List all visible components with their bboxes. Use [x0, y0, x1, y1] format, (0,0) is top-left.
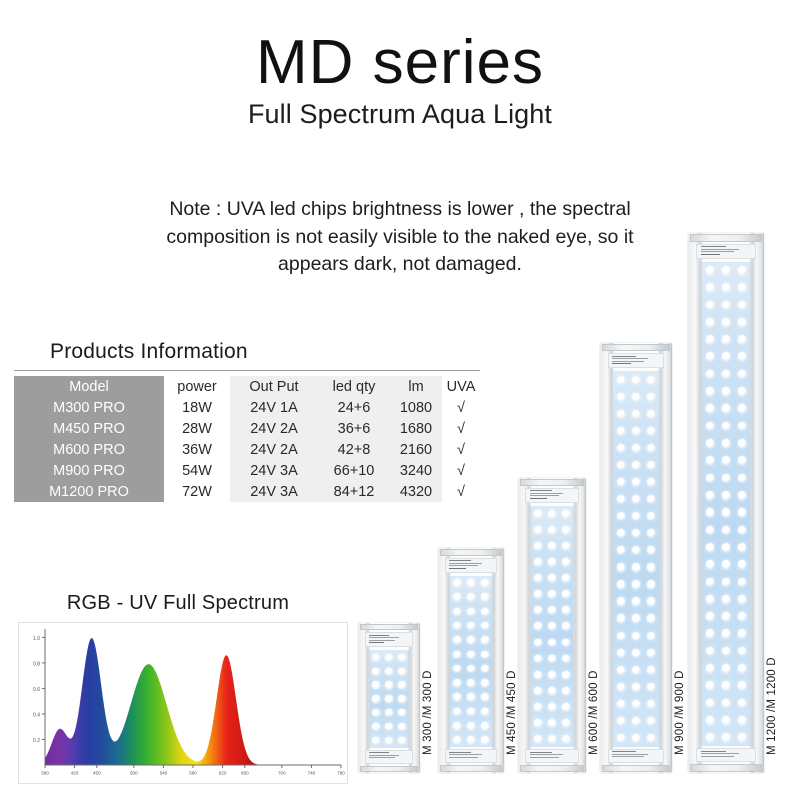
- led-dot: [706, 612, 715, 621]
- led-row: [531, 699, 574, 715]
- led-dot: [617, 666, 625, 674]
- led-row: [613, 593, 659, 610]
- led-dot: [738, 560, 747, 569]
- led-dot: [738, 283, 747, 292]
- led-dot: [722, 543, 731, 552]
- fixture-model-label: M 600 /M 600 D: [588, 670, 600, 755]
- led-row: [613, 405, 659, 422]
- led-dot: [467, 608, 475, 616]
- led-row: [531, 667, 574, 683]
- led-dot: [738, 681, 747, 690]
- led-dot: [617, 410, 625, 418]
- led-dot: [722, 352, 731, 361]
- led-dot: [706, 422, 715, 431]
- led-dot: [385, 723, 392, 730]
- led-dot: [562, 735, 570, 743]
- led-dot: [453, 693, 461, 701]
- led-dot: [453, 608, 461, 616]
- led-dot: [722, 526, 731, 535]
- product-fixture: [438, 548, 504, 773]
- led-dot: [385, 709, 392, 716]
- led-row: [531, 570, 574, 586]
- led-dot: [706, 578, 715, 587]
- led-dot: [534, 606, 542, 614]
- fixture-end-cap-bottom: [520, 765, 585, 772]
- led-dot: [632, 717, 640, 725]
- led-dot: [738, 422, 747, 431]
- led-dot: [632, 683, 640, 691]
- led-dot: [647, 717, 655, 725]
- led-dot: [617, 597, 625, 605]
- led-row: [613, 661, 659, 678]
- led-row: [450, 676, 492, 690]
- led-row: [613, 422, 659, 439]
- led-dot: [534, 639, 542, 647]
- led-dot: [706, 387, 715, 396]
- led-row: [370, 692, 409, 706]
- led-dot: [548, 526, 556, 534]
- led-panel: [701, 262, 751, 747]
- led-row: [702, 573, 750, 590]
- led-dot: [548, 510, 556, 518]
- led-dot: [647, 580, 655, 588]
- led-row: [702, 417, 750, 434]
- led-row: [450, 661, 492, 675]
- led-dot: [722, 491, 731, 500]
- led-dot: [467, 722, 475, 730]
- led-dot: [548, 622, 556, 630]
- led-dot: [647, 393, 655, 401]
- led-dot: [617, 495, 625, 503]
- led-dot: [617, 427, 625, 435]
- fixture-end-cap-bottom: [440, 765, 503, 772]
- led-row: [531, 651, 574, 667]
- led-dot: [647, 614, 655, 622]
- led-dot: [738, 266, 747, 275]
- led-dot: [534, 558, 542, 566]
- led-dot: [398, 723, 405, 730]
- led-row: [702, 314, 750, 331]
- led-row: [702, 452, 750, 469]
- led-row: [702, 591, 750, 608]
- led-row: [613, 542, 659, 559]
- led-row: [702, 262, 750, 279]
- fixture-body: [358, 623, 420, 773]
- led-dot: [453, 651, 461, 659]
- led-row: [702, 348, 750, 365]
- fixture-end-cap-top: [602, 344, 670, 351]
- led-row: [450, 633, 492, 647]
- led-dot: [562, 622, 570, 630]
- led-dot: [467, 622, 475, 630]
- led-dot: [706, 526, 715, 535]
- led-dot: [562, 526, 570, 534]
- led-dot: [632, 393, 640, 401]
- led-dot: [722, 612, 731, 621]
- led-dot: [534, 542, 542, 550]
- led-dot: [617, 563, 625, 571]
- led-dot: [398, 668, 405, 675]
- led-row: [450, 647, 492, 661]
- product-lineup-illustration: M 300 /M 300 DM 450 /M 450 DM 600 /M 600…: [0, 0, 800, 800]
- led-dot: [632, 649, 640, 657]
- led-dot: [647, 410, 655, 418]
- led-dot: [467, 593, 475, 601]
- led-dot: [453, 679, 461, 687]
- led-row: [531, 731, 574, 747]
- fixture-body: [600, 343, 672, 773]
- led-row: [702, 712, 750, 729]
- led-dot: [647, 649, 655, 657]
- led-dot: [738, 439, 747, 448]
- fixture-model-label: M 450 /M 450 D: [506, 670, 518, 755]
- led-row: [531, 634, 574, 650]
- led-dot: [617, 376, 625, 384]
- led-dot: [706, 629, 715, 638]
- led-dot: [647, 529, 655, 537]
- led-dot: [722, 699, 731, 708]
- led-dot: [738, 526, 747, 535]
- led-dot: [617, 546, 625, 554]
- led-dot: [372, 681, 379, 688]
- led-dot: [617, 614, 625, 622]
- led-dot: [453, 636, 461, 644]
- led-row: [450, 576, 492, 590]
- led-dot: [738, 629, 747, 638]
- led-dot: [706, 716, 715, 725]
- led-dot: [548, 606, 556, 614]
- led-dot: [481, 693, 489, 701]
- led-row: [702, 539, 750, 556]
- product-fixture: [688, 233, 764, 773]
- led-row: [613, 576, 659, 593]
- led-dot: [738, 664, 747, 673]
- fixture-model-label: M 1200 /M 1200 D: [766, 657, 778, 755]
- led-dot: [481, 608, 489, 616]
- led-dot: [467, 579, 475, 587]
- led-row: [613, 474, 659, 491]
- led-row: [613, 644, 659, 661]
- led-dot: [548, 655, 556, 663]
- led-dot: [706, 283, 715, 292]
- led-dot: [481, 636, 489, 644]
- led-dot: [398, 737, 405, 744]
- led-row: [450, 690, 492, 704]
- led-dot: [722, 508, 731, 517]
- led-dot: [481, 722, 489, 730]
- led-dot: [372, 654, 379, 661]
- led-dot: [706, 647, 715, 656]
- led-row: [702, 677, 750, 694]
- led-dot: [562, 558, 570, 566]
- led-dot: [706, 733, 715, 742]
- led-dot: [722, 716, 731, 725]
- led-dot: [722, 560, 731, 569]
- led-row: [702, 521, 750, 538]
- led-dot: [453, 622, 461, 630]
- led-row: [702, 435, 750, 452]
- fixture-bottom-sticker: [365, 750, 413, 764]
- product-fixture: [518, 478, 586, 773]
- led-dot: [632, 461, 640, 469]
- led-dot: [647, 546, 655, 554]
- led-dot: [632, 632, 640, 640]
- led-dot: [706, 456, 715, 465]
- led-dot: [722, 283, 731, 292]
- led-dot: [534, 671, 542, 679]
- led-dot: [647, 495, 655, 503]
- led-row: [613, 627, 659, 644]
- fixture-end-cap-top: [440, 549, 503, 556]
- led-row: [531, 538, 574, 554]
- led-row: [702, 469, 750, 486]
- led-row: [450, 719, 492, 733]
- led-row: [613, 457, 659, 474]
- led-row: [702, 279, 750, 296]
- led-dot: [632, 580, 640, 588]
- led-dot: [738, 716, 747, 725]
- led-dot: [706, 508, 715, 517]
- led-dot: [722, 474, 731, 483]
- fixture-end-cap-top: [690, 234, 762, 242]
- led-dot: [467, 708, 475, 716]
- led-dot: [722, 266, 731, 275]
- led-dot: [617, 700, 625, 708]
- led-dot: [647, 666, 655, 674]
- led-dot: [647, 734, 655, 742]
- led-row: [613, 508, 659, 525]
- led-dot: [632, 666, 640, 674]
- led-row: [613, 610, 659, 627]
- fixture-end-cap-bottom: [360, 766, 419, 772]
- led-row: [531, 554, 574, 570]
- led-row: [450, 733, 492, 747]
- led-dot: [706, 681, 715, 690]
- led-dot: [706, 266, 715, 275]
- led-dot: [738, 491, 747, 500]
- led-dot: [647, 632, 655, 640]
- product-fixture: [600, 343, 672, 773]
- led-row: [702, 296, 750, 313]
- led-dot: [632, 597, 640, 605]
- led-dot: [738, 699, 747, 708]
- led-row: [702, 694, 750, 711]
- led-dot: [722, 335, 731, 344]
- led-dot: [534, 590, 542, 598]
- led-dot: [738, 508, 747, 517]
- led-dot: [722, 318, 731, 327]
- led-row: [613, 371, 659, 388]
- led-dot: [632, 529, 640, 537]
- fixture-end-cap-top: [520, 479, 585, 486]
- fixture-spec-sticker: [365, 632, 413, 647]
- led-dot: [738, 647, 747, 656]
- led-dot: [706, 335, 715, 344]
- led-dot: [632, 700, 640, 708]
- led-dot: [534, 510, 542, 518]
- led-dot: [647, 683, 655, 691]
- led-row: [613, 388, 659, 405]
- led-row: [531, 506, 574, 522]
- led-dot: [738, 456, 747, 465]
- fixture-spec-sticker: [525, 488, 578, 503]
- led-dot: [706, 318, 715, 327]
- led-row: [531, 618, 574, 634]
- led-dot: [738, 578, 747, 587]
- led-dot: [534, 574, 542, 582]
- led-dot: [647, 478, 655, 486]
- led-dot: [548, 590, 556, 598]
- led-dot: [722, 664, 731, 673]
- led-dot: [706, 491, 715, 500]
- fixture-body: [518, 478, 586, 773]
- led-panel: [612, 371, 660, 747]
- led-dot: [738, 387, 747, 396]
- led-row: [702, 729, 750, 746]
- led-row: [613, 695, 659, 712]
- led-dot: [722, 422, 731, 431]
- led-dot: [722, 439, 731, 448]
- led-dot: [617, 580, 625, 588]
- led-dot: [632, 546, 640, 554]
- led-dot: [467, 736, 475, 744]
- led-dot: [372, 737, 379, 744]
- led-row: [450, 619, 492, 633]
- led-dot: [722, 629, 731, 638]
- led-dot: [617, 444, 625, 452]
- led-row: [702, 608, 750, 625]
- led-dot: [548, 558, 556, 566]
- led-dot: [722, 647, 731, 656]
- led-dot: [738, 733, 747, 742]
- led-dot: [738, 595, 747, 604]
- fixture-end-cap-top: [360, 624, 419, 630]
- led-dot: [632, 410, 640, 418]
- led-row: [613, 525, 659, 542]
- led-dot: [706, 301, 715, 310]
- led-dot: [617, 717, 625, 725]
- led-dot: [467, 651, 475, 659]
- led-dot: [617, 632, 625, 640]
- led-row: [613, 439, 659, 456]
- led-dot: [481, 679, 489, 687]
- led-row: [531, 522, 574, 538]
- led-row: [702, 487, 750, 504]
- led-dot: [647, 597, 655, 605]
- led-dot: [534, 622, 542, 630]
- led-dot: [562, 590, 570, 598]
- led-row: [613, 730, 659, 747]
- led-dot: [738, 404, 747, 413]
- led-row: [531, 602, 574, 618]
- led-dot: [617, 461, 625, 469]
- led-dot: [722, 681, 731, 690]
- led-dot: [722, 456, 731, 465]
- led-dot: [706, 543, 715, 552]
- led-dot: [481, 736, 489, 744]
- led-dot: [548, 574, 556, 582]
- led-dot: [632, 427, 640, 435]
- led-dot: [398, 654, 405, 661]
- fixture-model-label: M 900 /M 900 D: [674, 670, 686, 755]
- led-dot: [562, 542, 570, 550]
- led-dot: [722, 301, 731, 310]
- led-dot: [467, 636, 475, 644]
- led-dot: [453, 593, 461, 601]
- led-dot: [722, 595, 731, 604]
- led-panel: [369, 650, 410, 748]
- led-row: [531, 715, 574, 731]
- fixture-bottom-sticker: [696, 748, 755, 762]
- led-dot: [722, 404, 731, 413]
- product-fixture: [358, 623, 420, 773]
- led-dot: [738, 474, 747, 483]
- led-row: [370, 664, 409, 678]
- led-dot: [385, 695, 392, 702]
- led-dot: [706, 370, 715, 379]
- led-dot: [453, 665, 461, 673]
- fixture-spec-sticker: [445, 558, 496, 573]
- fixture-end-cap-bottom: [690, 764, 762, 772]
- led-dot: [647, 444, 655, 452]
- led-dot: [534, 687, 542, 695]
- fixture-end-cap-bottom: [602, 765, 670, 772]
- led-dot: [372, 723, 379, 730]
- led-dot: [548, 671, 556, 679]
- led-dot: [722, 387, 731, 396]
- led-dot: [706, 664, 715, 673]
- led-dot: [562, 719, 570, 727]
- led-dot: [481, 622, 489, 630]
- led-dot: [548, 703, 556, 711]
- led-dot: [372, 668, 379, 675]
- led-row: [370, 650, 409, 664]
- led-dot: [738, 301, 747, 310]
- led-dot: [385, 737, 392, 744]
- led-dot: [632, 512, 640, 520]
- led-row: [702, 556, 750, 573]
- led-dot: [562, 687, 570, 695]
- led-dot: [548, 542, 556, 550]
- led-dot: [481, 708, 489, 716]
- led-dot: [562, 574, 570, 582]
- fixture-bottom-sticker: [608, 749, 664, 763]
- led-row: [370, 706, 409, 720]
- led-dot: [738, 318, 747, 327]
- led-row: [613, 678, 659, 695]
- led-dot: [722, 733, 731, 742]
- led-dot: [706, 595, 715, 604]
- led-row: [531, 683, 574, 699]
- led-row: [450, 590, 492, 604]
- led-row: [613, 712, 659, 729]
- led-dot: [481, 651, 489, 659]
- led-dot: [534, 703, 542, 711]
- led-dot: [548, 735, 556, 743]
- led-dot: [385, 668, 392, 675]
- led-dot: [722, 578, 731, 587]
- led-dot: [647, 563, 655, 571]
- led-dot: [548, 719, 556, 727]
- led-dot: [706, 352, 715, 361]
- led-dot: [647, 512, 655, 520]
- led-dot: [562, 655, 570, 663]
- led-row: [702, 383, 750, 400]
- led-dot: [617, 529, 625, 537]
- led-dot: [562, 671, 570, 679]
- fixture-spec-sticker: [696, 244, 755, 259]
- led-row: [531, 586, 574, 602]
